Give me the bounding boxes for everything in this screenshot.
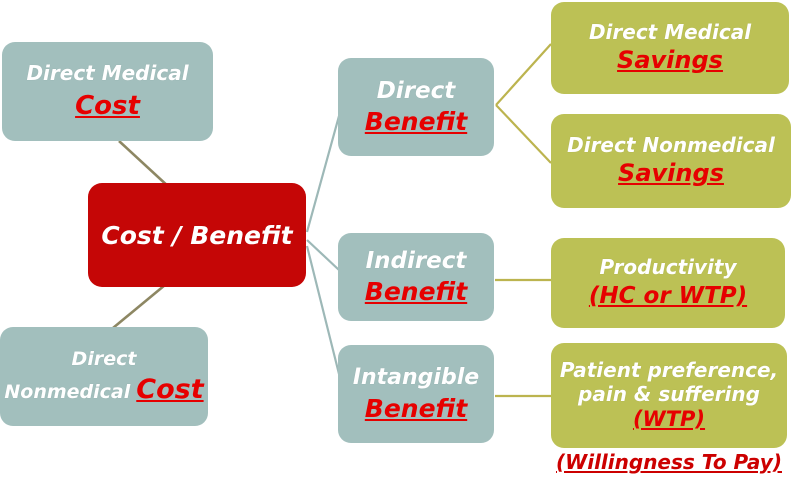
node-label-line2: Benefit <box>365 108 467 135</box>
node-label-line1: Direct <box>377 79 456 104</box>
node-label-line2: Benefit <box>365 395 467 422</box>
connector-direct-medical-cost <box>119 141 170 188</box>
node-label-line1: Direct Medical <box>26 63 188 85</box>
caption-willingness-text: (Willingness To Pay) <box>556 450 782 474</box>
node-label-line2: Savings <box>617 48 723 74</box>
node-label-line1: Intangible <box>353 366 479 390</box>
node-patient-preference[interactable]: Patient preference, pain & suffering (WT… <box>551 343 787 448</box>
connector-direct-medical-savings <box>496 44 551 105</box>
node-direct-medical-savings[interactable]: Direct Medical Savings <box>551 2 789 94</box>
node-label-line2: (WTP) <box>633 408 705 431</box>
connector-direct-nonmedical-cost <box>113 285 165 328</box>
node-cost-benefit[interactable]: Cost / Benefit <box>88 183 306 287</box>
node-label-line2: (HC or WTP) <box>589 284 747 309</box>
node-direct-nonmedical-cost[interactable]: Direct Nonmedical Cost <box>0 327 208 426</box>
node-label-line2-red: Cost <box>136 375 203 404</box>
node-label-line1: Productivity <box>600 257 737 279</box>
node-label-line1b: pain & suffering <box>578 384 760 406</box>
node-indirect-benefit[interactable]: Indirect Benefit <box>338 233 494 321</box>
node-label-line2-white: Nonmedical <box>4 382 130 403</box>
node-label-line1: Direct Nonmedical <box>567 135 775 157</box>
node-direct-benefit[interactable]: Direct Benefit <box>338 58 494 156</box>
node-label-center: Cost / Benefit <box>101 222 292 249</box>
node-label-line2: Benefit <box>365 278 467 305</box>
node-label-line2: Nonmedical Cost <box>4 375 203 404</box>
node-direct-medical-cost[interactable]: Direct Medical Cost <box>2 42 213 141</box>
connector-direct-nonmedical-savings <box>496 105 551 163</box>
caption-willingness-to-pay: (Willingness To Pay) <box>551 450 787 474</box>
node-intangible-benefit[interactable]: Intangible Benefit <box>338 345 494 443</box>
node-label-line1: Indirect <box>366 249 467 274</box>
node-label-line1: Patient preference, <box>560 360 778 382</box>
node-label-line1: Direct <box>72 349 137 370</box>
node-direct-nonmedical-savings[interactable]: Direct Nonmedical Savings <box>551 114 791 208</box>
node-label-line2: Savings <box>618 161 724 187</box>
diagram-canvas: Direct Medical Cost Direct Nonmedical Co… <box>0 0 792 485</box>
node-productivity[interactable]: Productivity (HC or WTP) <box>551 238 785 328</box>
connector-direct-benefit <box>307 116 339 232</box>
node-label-line1: Direct Medical <box>589 22 751 44</box>
node-label-line2: Cost <box>75 92 140 120</box>
